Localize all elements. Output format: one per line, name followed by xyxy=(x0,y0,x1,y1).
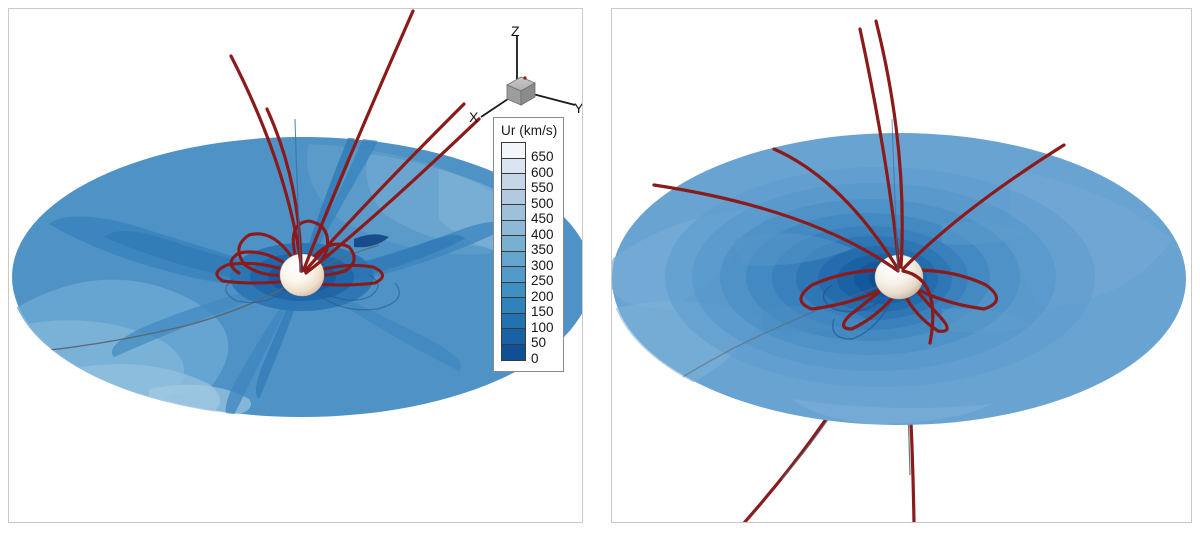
colorbar-tick-label: 250 xyxy=(531,273,554,289)
scene-right xyxy=(612,9,1191,522)
colorbar-tick-label: 350 xyxy=(531,242,554,258)
render-view-right xyxy=(612,9,1192,523)
colorbar-tick-label: 600 xyxy=(531,165,554,181)
colorbar-swatches-left xyxy=(501,142,526,361)
colorbar-tick-label: 0 xyxy=(531,351,554,367)
colorbar-swatch xyxy=(502,205,525,221)
colorbar-tick-label: 150 xyxy=(531,304,554,320)
colorbar-swatch xyxy=(502,174,525,190)
colorbar-tick-label: 450 xyxy=(531,211,554,227)
colorbar-swatch xyxy=(502,283,525,299)
colorbar-tick-label: 550 xyxy=(531,180,554,196)
colorbar-swatch xyxy=(502,221,525,237)
colorbar-swatch xyxy=(502,159,525,175)
colorbar-swatch xyxy=(502,329,525,345)
triad-label-z-left: Z xyxy=(511,23,520,39)
colorbar-tick-label: 650 xyxy=(531,149,554,165)
colorbar-labels-left: 650600550500450400350300250200150100500 xyxy=(531,149,554,366)
colorbar-left[interactable]: Ur (km/s) 650600550500450400350300250200… xyxy=(493,117,564,372)
orientation-triad-left: Z Y X xyxy=(455,23,583,132)
colorbar-swatch xyxy=(502,298,525,314)
triad-cube-left xyxy=(507,76,535,105)
colorbar-title-left: Ur (km/s) xyxy=(501,123,557,138)
colorbar-tick-label: 500 xyxy=(531,196,554,212)
colorbar-tick-label: 300 xyxy=(531,258,554,274)
figure-container: Z Y X Ur (km/s) 650600550500450400350300… xyxy=(0,0,1200,533)
colorbar-swatch xyxy=(502,252,525,268)
colorbar-tick-label: 100 xyxy=(531,320,554,336)
panel-right: Z Y X Ur (km/s) 750700650600550500450400… xyxy=(611,8,1192,523)
colorbar-swatch xyxy=(502,345,525,361)
colorbar-swatch xyxy=(502,236,525,252)
triad-label-y-left: Y xyxy=(574,100,583,116)
colorbar-tick-label: 50 xyxy=(531,335,554,351)
colorbar-swatch xyxy=(502,190,525,206)
colorbar-tick-label: 200 xyxy=(531,289,554,305)
colorbar-swatch xyxy=(502,314,525,330)
colorbar-swatch xyxy=(502,267,525,283)
colorbar-tick-label: 400 xyxy=(531,227,554,243)
panel-left: Z Y X Ur (km/s) 650600550500450400350300… xyxy=(8,8,583,523)
colorbar-swatch xyxy=(502,143,525,159)
triad-label-x-left: X xyxy=(469,109,478,125)
